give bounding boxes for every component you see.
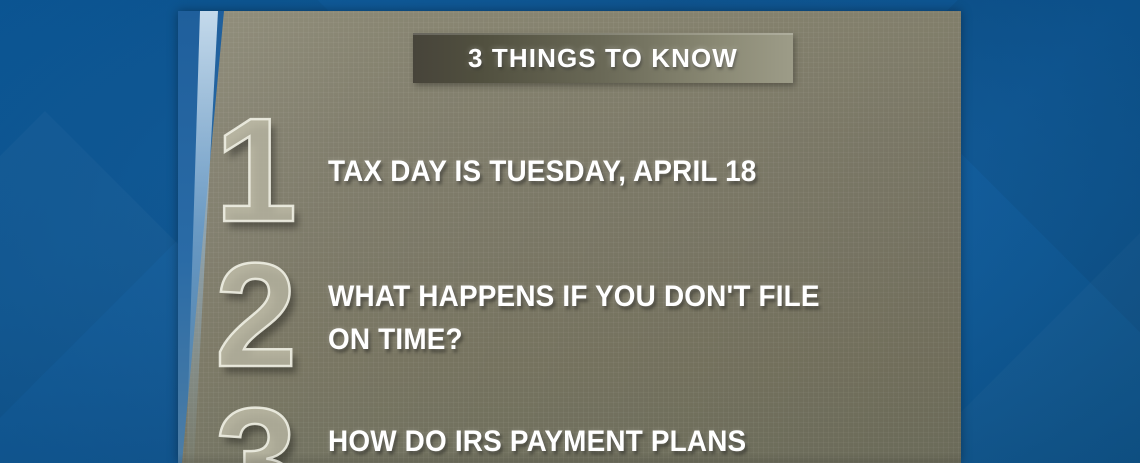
list-item-headline-3: HOW DO IRS PAYMENT PLANS WORK?: [328, 421, 877, 463]
list-item-number-2: 2: [196, 252, 316, 379]
headline-line: TAX DAY IS TUESDAY, APRIL 18: [328, 151, 877, 194]
list-item-headline-1: TAX DAY IS TUESDAY, APRIL 18: [328, 151, 877, 194]
title-banner-highlight: [413, 33, 793, 35]
broadcast-graphic: 3 THINGS TO KNOW 1 TAX DAY IS TUESDAY, A…: [0, 0, 1140, 463]
title-banner: 3 THINGS TO KNOW: [413, 33, 793, 83]
headline-line: ON TIME?: [328, 319, 877, 362]
list-item: 1 TAX DAY IS TUESDAY, APRIL 18: [178, 99, 961, 239]
headline-line: WHAT HAPPENS IF YOU DON'T FILE: [328, 276, 877, 319]
content-panel: 3 THINGS TO KNOW 1 TAX DAY IS TUESDAY, A…: [178, 11, 961, 463]
list-item-number-3: 3: [196, 397, 316, 463]
list-item: 3 HOW DO IRS PAYMENT PLANS WORK?: [178, 389, 961, 463]
list-item-number-1: 1: [196, 107, 316, 234]
background-chevron-shape: [933, 143, 1140, 463]
headline-line: HOW DO IRS PAYMENT PLANS: [328, 421, 877, 463]
page-title: 3 THINGS TO KNOW: [468, 43, 738, 74]
list-item: 2 WHAT HAPPENS IF YOU DON'T FILE ON TIME…: [178, 244, 961, 384]
list-item-headline-2: WHAT HAPPENS IF YOU DON'T FILE ON TIME?: [328, 276, 877, 361]
